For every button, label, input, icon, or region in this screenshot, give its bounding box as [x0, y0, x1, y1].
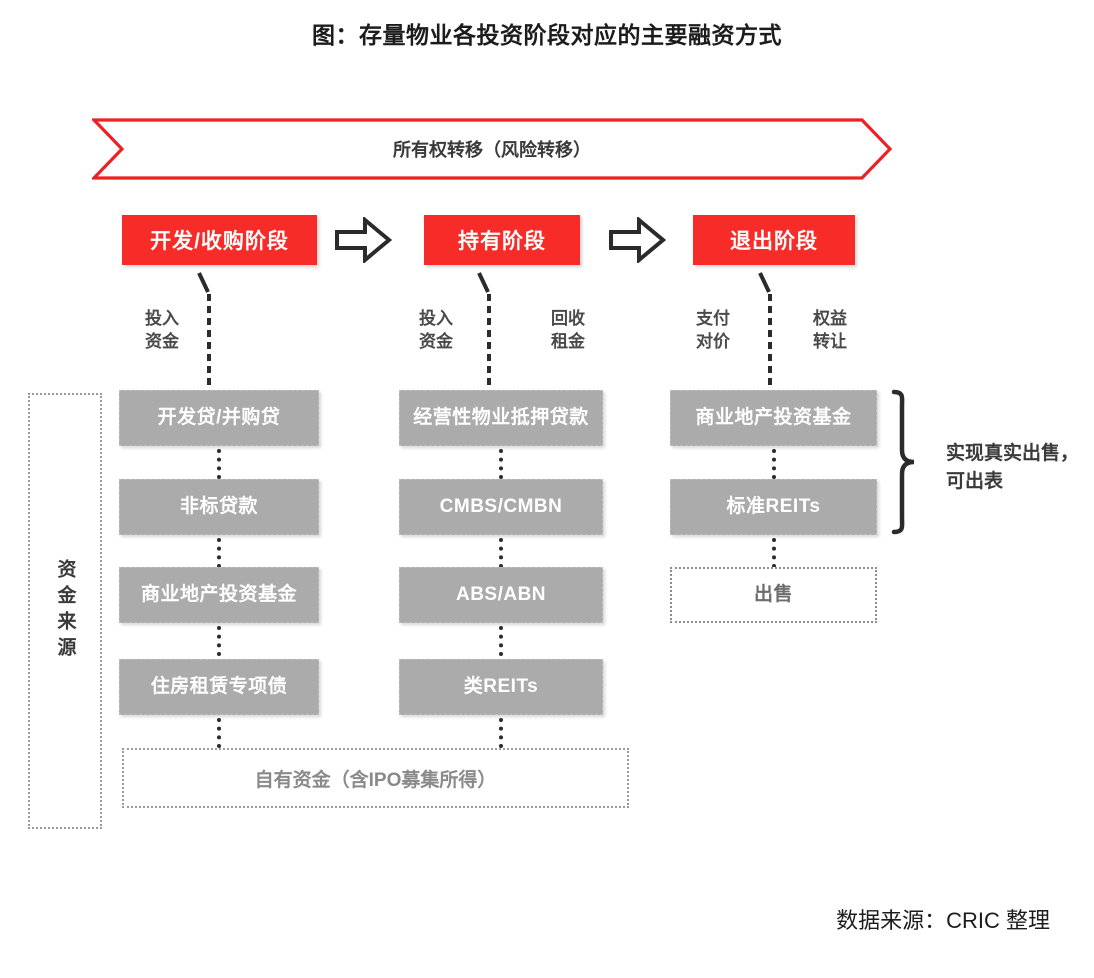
- connector-stage-to-column-3: [757, 270, 777, 388]
- brace-icon: [888, 388, 922, 536]
- flow-label-line2: 资金: [134, 331, 190, 354]
- connector-dotted: [217, 718, 225, 748]
- instrument-box-abs-abn[interactable]: ABS/ABN: [399, 567, 603, 623]
- instrument-box-cre-fund[interactable]: 商业地产投资基金: [119, 567, 319, 623]
- flow-label-collect-rent: 回收 租金: [540, 308, 596, 354]
- connector-dotted: [217, 538, 225, 568]
- flow-label-line1: 权益: [802, 308, 858, 331]
- flow-label-invest-capital-hold: 投入 资金: [408, 308, 464, 354]
- instrument-box-cre-fund-exit[interactable]: 商业地产投资基金: [670, 390, 877, 446]
- flow-label-line2: 资金: [408, 331, 464, 354]
- flow-label-line2: 对价: [685, 331, 741, 354]
- arrow-right-icon: [334, 217, 392, 263]
- connector-dotted: [499, 718, 507, 748]
- instrument-box-cmbs-cmbn[interactable]: CMBS/CMBN: [399, 479, 603, 535]
- curly-brace-glyph: [888, 388, 922, 536]
- instrument-box-sale[interactable]: 出售: [670, 567, 877, 623]
- flow-label-line1: 回收: [540, 308, 596, 331]
- stage-box-development-acquisition[interactable]: 开发/收购阶段: [122, 215, 317, 265]
- flow-label-line1: 支付: [685, 308, 741, 331]
- connector-dotted: [772, 449, 780, 479]
- connector-stage-to-column-1: [196, 270, 216, 388]
- stage-box-holding[interactable]: 持有阶段: [424, 215, 580, 265]
- connector-dotted: [772, 538, 780, 568]
- stage-box-exit[interactable]: 退出阶段: [693, 215, 855, 265]
- dotted-connector-glyph: [757, 270, 777, 388]
- brace-note-label: 实现真实出售，可出表: [946, 440, 1086, 495]
- connector-dotted: [499, 449, 507, 479]
- flow-label-pay-consideration: 支付 对价: [685, 308, 741, 354]
- flow-label-line1: 投入: [134, 308, 190, 331]
- connector-stage-to-column-2: [476, 270, 496, 388]
- flow-label-equity-transfer: 权益 转让: [802, 308, 858, 354]
- instrument-box-quasi-reits[interactable]: 类REITs: [399, 659, 603, 715]
- ownership-transfer-banner: 所有权转移（风险转移）: [92, 118, 892, 180]
- flow-label-line2: 租金: [540, 331, 596, 354]
- own-funds-box[interactable]: 自有资金（含IPO募集所得）: [122, 748, 629, 808]
- arrow-right-glyph: [334, 217, 392, 263]
- instrument-box-operating-property-mortgage[interactable]: 经营性物业抵押贷款: [399, 390, 603, 446]
- flow-label-line2: 转让: [802, 331, 858, 354]
- instrument-box-rental-housing-bond[interactable]: 住房租赁专项债: [119, 659, 319, 715]
- flow-label-invest-capital-dev: 投入 资金: [134, 308, 190, 354]
- arrow-right-glyph: [608, 217, 666, 263]
- instrument-box-dev-loan[interactable]: 开发贷/并购贷: [119, 390, 319, 446]
- instrument-box-standard-reits[interactable]: 标准REITs: [670, 479, 877, 535]
- arrow-right-icon: [608, 217, 666, 263]
- flow-label-line1: 投入: [408, 308, 464, 331]
- connector-dotted: [217, 626, 225, 656]
- connector-dotted: [499, 538, 507, 568]
- page-title: 图：存量物业各投资阶段对应的主要融资方式: [0, 16, 1094, 50]
- connector-dotted: [217, 449, 225, 479]
- ownership-transfer-label: 所有权转移（风险转移）: [92, 118, 892, 180]
- funding-source-label: 资金来源: [56, 559, 75, 663]
- connector-dotted: [499, 626, 507, 656]
- dotted-connector-glyph: [476, 270, 496, 388]
- funding-source-container: 资金来源: [28, 393, 102, 829]
- source-note: 数据来源：CRIC 整理: [836, 903, 1050, 935]
- dotted-connector-glyph: [196, 270, 216, 388]
- instrument-box-nonstandard-loan[interactable]: 非标贷款: [119, 479, 319, 535]
